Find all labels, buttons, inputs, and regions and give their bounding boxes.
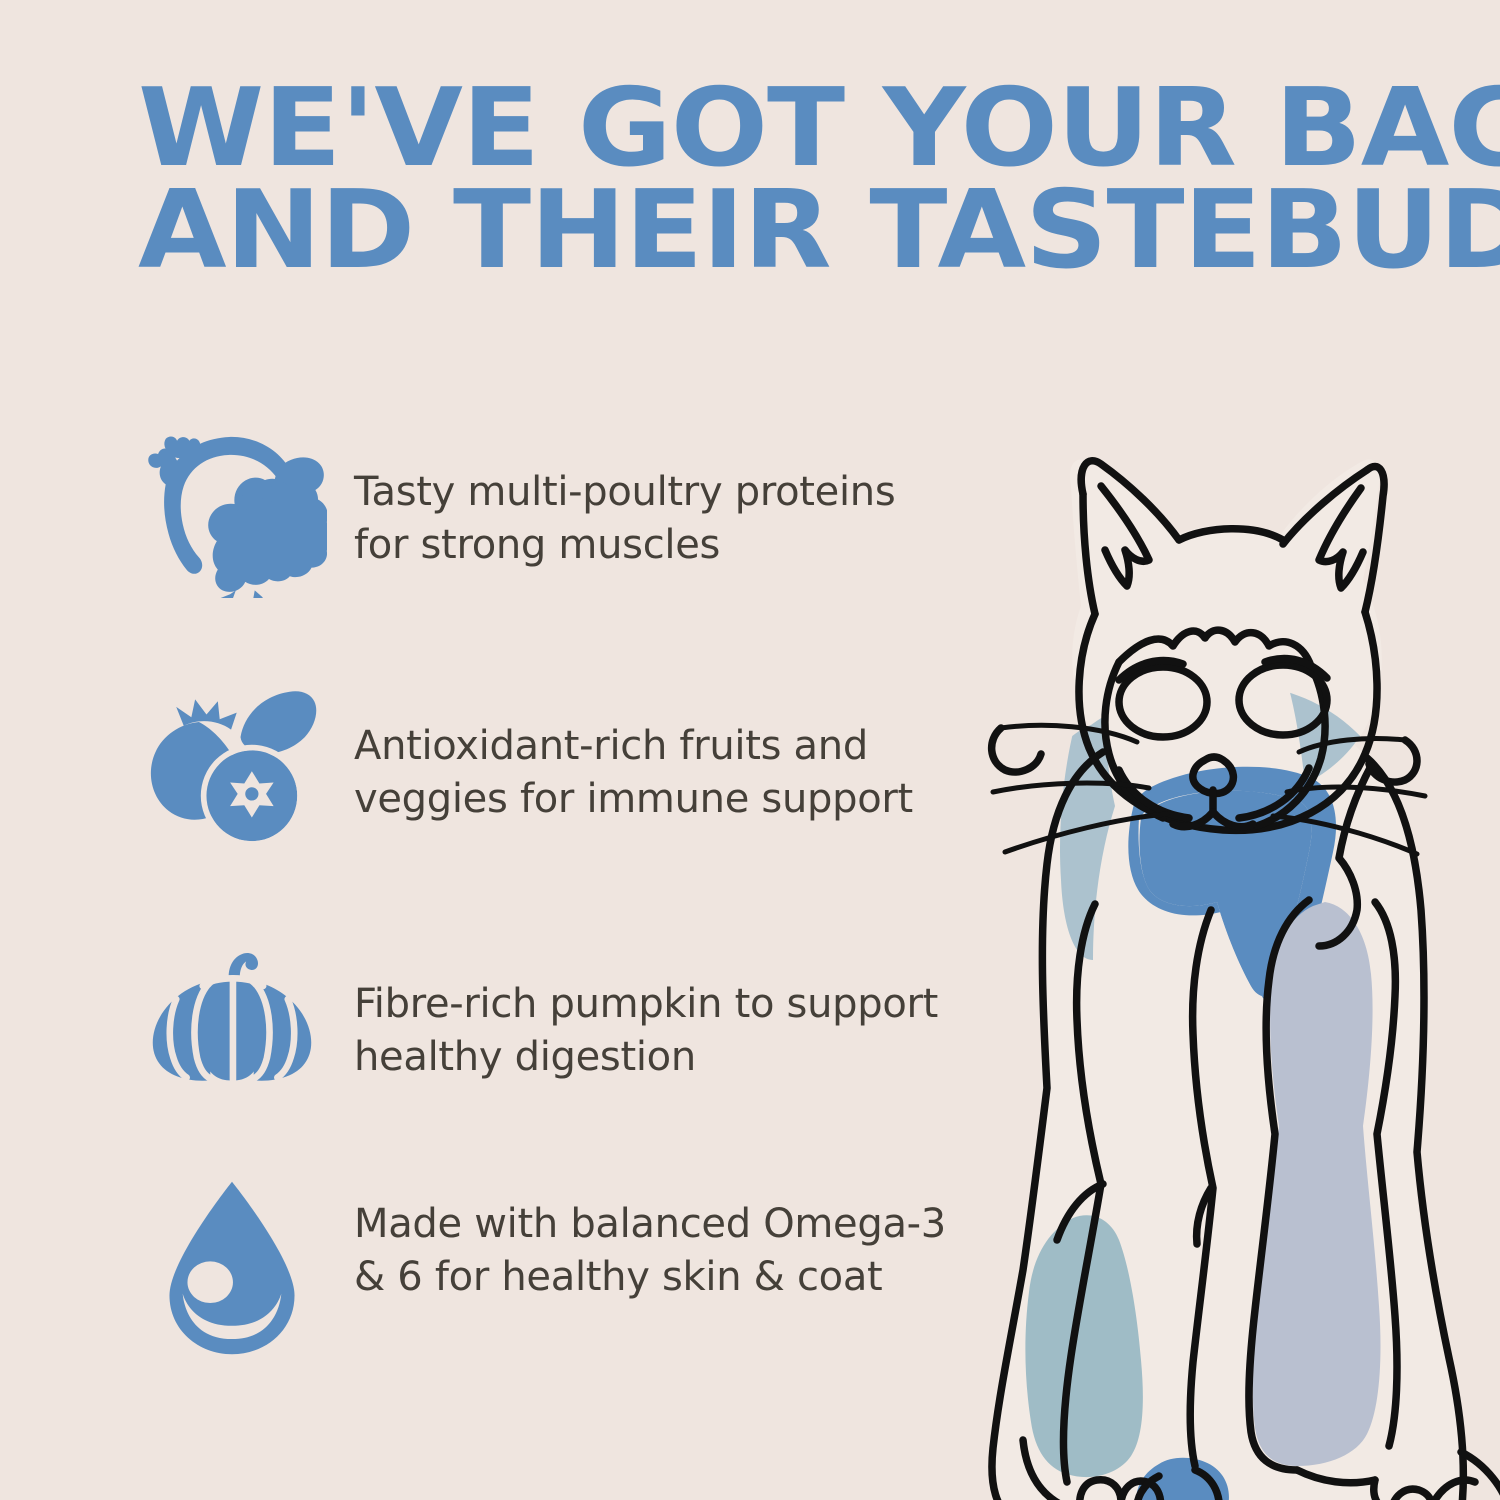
feature-row-pumpkin: Fibre-rich pumpkin to support healthy di… bbox=[132, 950, 952, 1087]
feature-label: Tasty multi-poultry proteins for strong … bbox=[354, 418, 952, 572]
feature-label: Made with balanced Omega-3 & 6 for healt… bbox=[354, 1178, 952, 1304]
feature-row-poultry: Tasty multi-poultry proteins for strong … bbox=[132, 418, 952, 598]
page-title: WE'VE GOT YOUR BACK. AND THEIR TASTEBUDS… bbox=[138, 78, 1418, 282]
poultry-icon bbox=[132, 418, 332, 598]
feature-row-berries: Antioxidant-rich fruits and veggies for … bbox=[132, 688, 952, 844]
headline-line-1: WE'VE GOT YOUR BACK. bbox=[138, 78, 1495, 180]
poster-canvas: WE'VE GOT YOUR BACK. AND THEIR TASTEBUDS… bbox=[0, 0, 1500, 1500]
droplet-icon bbox=[132, 1178, 332, 1358]
headline-line-2: AND THEIR TASTEBUDS. bbox=[138, 180, 1495, 282]
cat-illustration bbox=[905, 440, 1500, 1500]
pumpkin-icon bbox=[132, 950, 332, 1087]
berries-icon bbox=[132, 688, 332, 844]
feature-label: Fibre-rich pumpkin to support healthy di… bbox=[354, 950, 952, 1084]
feature-label: Antioxidant-rich fruits and veggies for … bbox=[354, 688, 952, 826]
feature-row-omega: Made with balanced Omega-3 & 6 for healt… bbox=[132, 1178, 952, 1358]
